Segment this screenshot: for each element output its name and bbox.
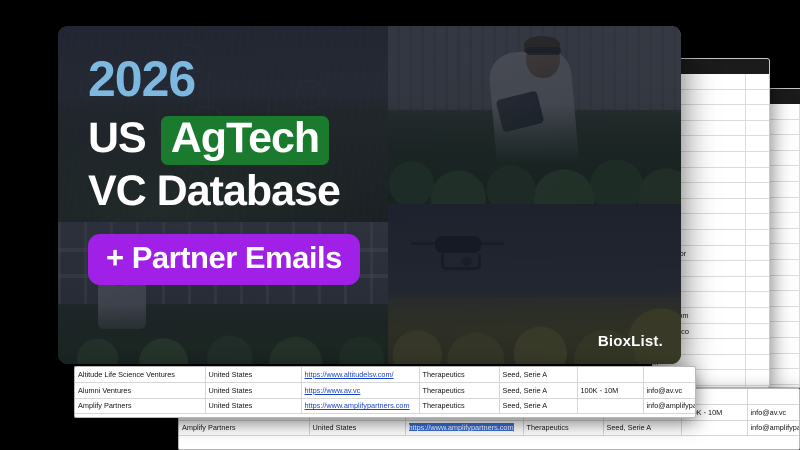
screenshot-stage: Email s@500.copworth.compartners.nyc@acc… <box>0 0 800 450</box>
cell-email: info@amplifypartners.com <box>643 398 696 414</box>
brand-logo: BioxList. <box>598 333 663 350</box>
hero-line-two: US AgTech <box>88 116 518 165</box>
cell-check-size <box>681 420 747 436</box>
cell-website[interactable]: https://www.amplifypartners.com <box>405 420 523 436</box>
hero-text-block: 2026 US AgTech VC Database + Partner Ema… <box>88 54 518 285</box>
cell-country: United States <box>205 367 301 383</box>
cell-website[interactable]: https://www.amplifypartners.com <box>301 398 419 414</box>
cell-stage: Seed, Serie A <box>603 420 681 436</box>
table-row[interactable]: Amplify PartnersUnited Stateshttps://www… <box>179 420 800 436</box>
website-link[interactable]: https://www.altitudelsv.com/ <box>305 370 394 379</box>
cell-check-size: 100K - 10M <box>577 383 643 399</box>
cell-firm: Alumni Ventures <box>75 383 205 399</box>
table-primary[interactable]: Altitude Life Science VenturesUnited Sta… <box>75 367 696 414</box>
cell-check-size <box>577 398 643 414</box>
cell-email <box>747 389 800 405</box>
cell-country: United States <box>309 420 405 436</box>
hero-line-two-prefix: US <box>88 114 157 162</box>
cell-category: Therapeutics <box>419 367 499 383</box>
cell-category: Therapeutics <box>419 398 499 414</box>
agtech-badge: AgTech <box>161 116 330 165</box>
table-row[interactable]: Amplify PartnersUnited Stateshttps://www… <box>75 398 696 414</box>
cell-firm: Amplify Partners <box>179 420 309 436</box>
hero-year: 2026 <box>88 54 518 104</box>
cell-stage: Seed, Serie A <box>499 383 577 399</box>
cell-category: Therapeutics <box>523 420 603 436</box>
cell-website[interactable]: https://www.altitudelsv.com/ <box>301 367 419 383</box>
cell-country: United States <box>205 398 301 414</box>
cell-email: info@amplifypartners.com <box>747 420 800 436</box>
table-row[interactable]: Alumni VenturesUnited Stateshttps://www.… <box>75 383 696 399</box>
cell-stage: Seed, Serie A <box>499 398 577 414</box>
website-link[interactable]: https://www.amplifypartners.com <box>305 401 410 410</box>
website-link[interactable]: https://www.av.vc <box>305 386 361 395</box>
cell-email: info@av.vc <box>643 383 696 399</box>
cell-email <box>643 367 696 383</box>
website-link[interactable]: https://www.amplifypartners.com <box>409 423 514 432</box>
cell-email: info@av.vc <box>747 405 800 421</box>
cell-stage: Seed, Serie A <box>499 367 577 383</box>
table-row[interactable]: Altitude Life Science VenturesUnited Sta… <box>75 367 696 383</box>
cell-website[interactable]: https://www.av.vc <box>301 383 419 399</box>
partner-emails-badge: + Partner Emails <box>88 234 360 285</box>
data-table-primary[interactable]: Altitude Life Science VenturesUnited Sta… <box>74 366 696 418</box>
cell-firm: Amplify Partners <box>75 398 205 414</box>
grid-vline <box>745 74 746 388</box>
hero-card: 2026 US AgTech VC Database + Partner Ema… <box>58 26 681 364</box>
cell-category: Therapeutics <box>419 383 499 399</box>
cell-check-size <box>577 367 643 383</box>
cell-country: United States <box>205 383 301 399</box>
cell-firm: Altitude Life Science Ventures <box>75 367 205 383</box>
hero-line-three: VC Database <box>88 170 518 214</box>
